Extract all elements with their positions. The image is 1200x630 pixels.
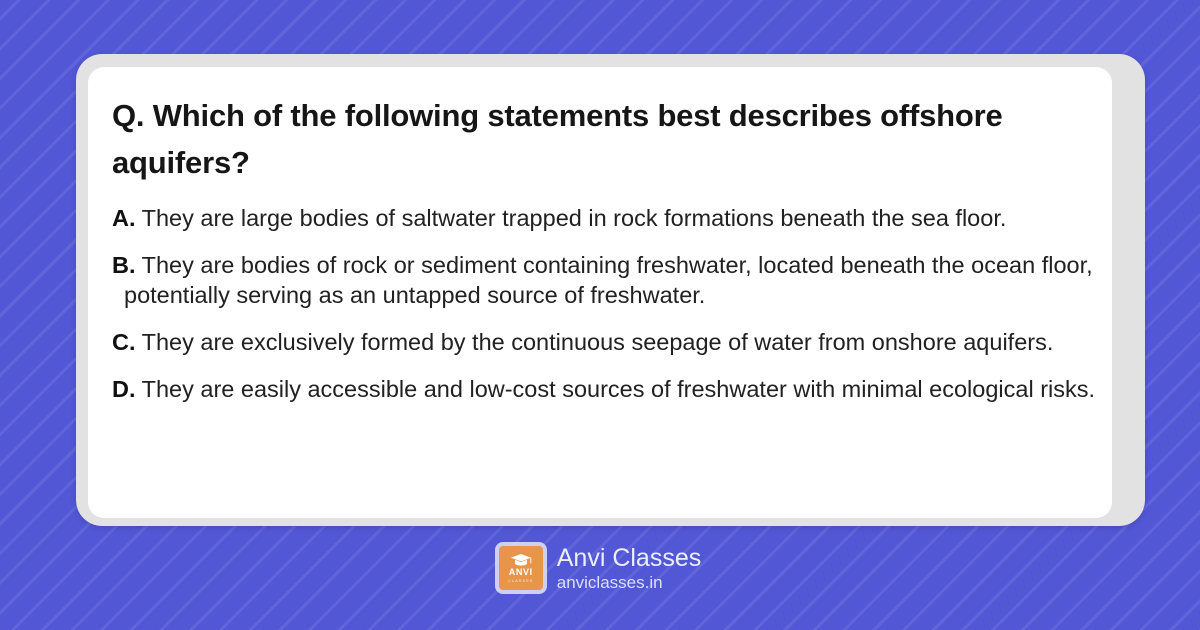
brand-text-block: Anvi Classes anviclasses.in xyxy=(557,545,702,592)
logo-name-text: ANVI xyxy=(509,568,533,577)
option-c-text: They are exclusively formed by the conti… xyxy=(142,329,1054,355)
option-d[interactable]: D. They are easily accessible and low-co… xyxy=(112,375,1099,405)
option-d-letter: D. xyxy=(112,376,136,402)
option-c[interactable]: C. They are exclusively formed by the co… xyxy=(112,328,1099,358)
option-a-letter: A. xyxy=(112,205,136,231)
brand-title: Anvi Classes xyxy=(557,545,702,572)
graduation-cap-icon xyxy=(510,553,532,567)
logo-subtitle-text: CLASSES xyxy=(508,579,533,583)
option-b-text: They are bodies of rock or sediment cont… xyxy=(124,252,1093,308)
option-b-letter: B. xyxy=(112,252,136,278)
footer-branding: ANVI CLASSES Anvi Classes anviclasses.in xyxy=(0,545,1200,592)
option-c-letter: C. xyxy=(112,329,136,355)
option-d-text: They are easily accessible and low-cost … xyxy=(142,376,1095,402)
anvi-classes-logo: ANVI CLASSES xyxy=(499,546,543,590)
option-a[interactable]: A. They are large bodies of saltwater tr… xyxy=(112,204,1099,234)
question-content: Q. Which of the following statements bes… xyxy=(112,92,1102,405)
option-b[interactable]: B. They are bodies of rock or sediment c… xyxy=(112,251,1099,311)
quiz-card-slide: Q. Which of the following statements bes… xyxy=(0,0,1200,630)
question-text: Q. Which of the following statements bes… xyxy=(112,92,1017,186)
brand-url[interactable]: anviclasses.in xyxy=(557,574,702,592)
option-a-text: They are large bodies of saltwater trapp… xyxy=(142,205,1007,231)
